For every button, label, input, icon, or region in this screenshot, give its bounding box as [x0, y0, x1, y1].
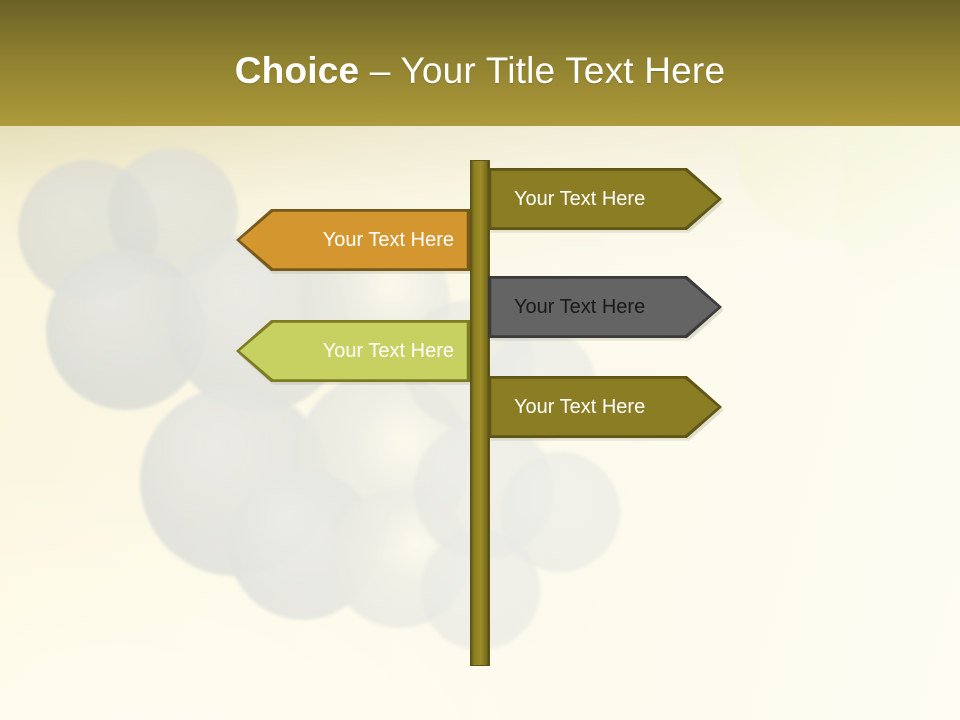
title-separator: – [359, 50, 400, 91]
arrow-label: Your Text Here [488, 276, 722, 338]
page-title: Choice – Your Title Text Here [0, 50, 960, 92]
arrow-label: Your Text Here [488, 168, 722, 230]
grape-blob [500, 452, 620, 572]
arrow-label: Your Text Here [488, 376, 722, 438]
signpost-post [470, 160, 490, 666]
title-band: Choice – Your Title Text Here [0, 0, 960, 126]
title-rest: Your Title Text Here [400, 50, 725, 91]
title-keyword: Choice [235, 50, 360, 91]
arrow-label: Your Text Here [236, 209, 470, 271]
arrow-label: Your Text Here [236, 320, 470, 382]
slide-canvas: Choice – Your Title Text Here Your Text … [0, 0, 960, 720]
